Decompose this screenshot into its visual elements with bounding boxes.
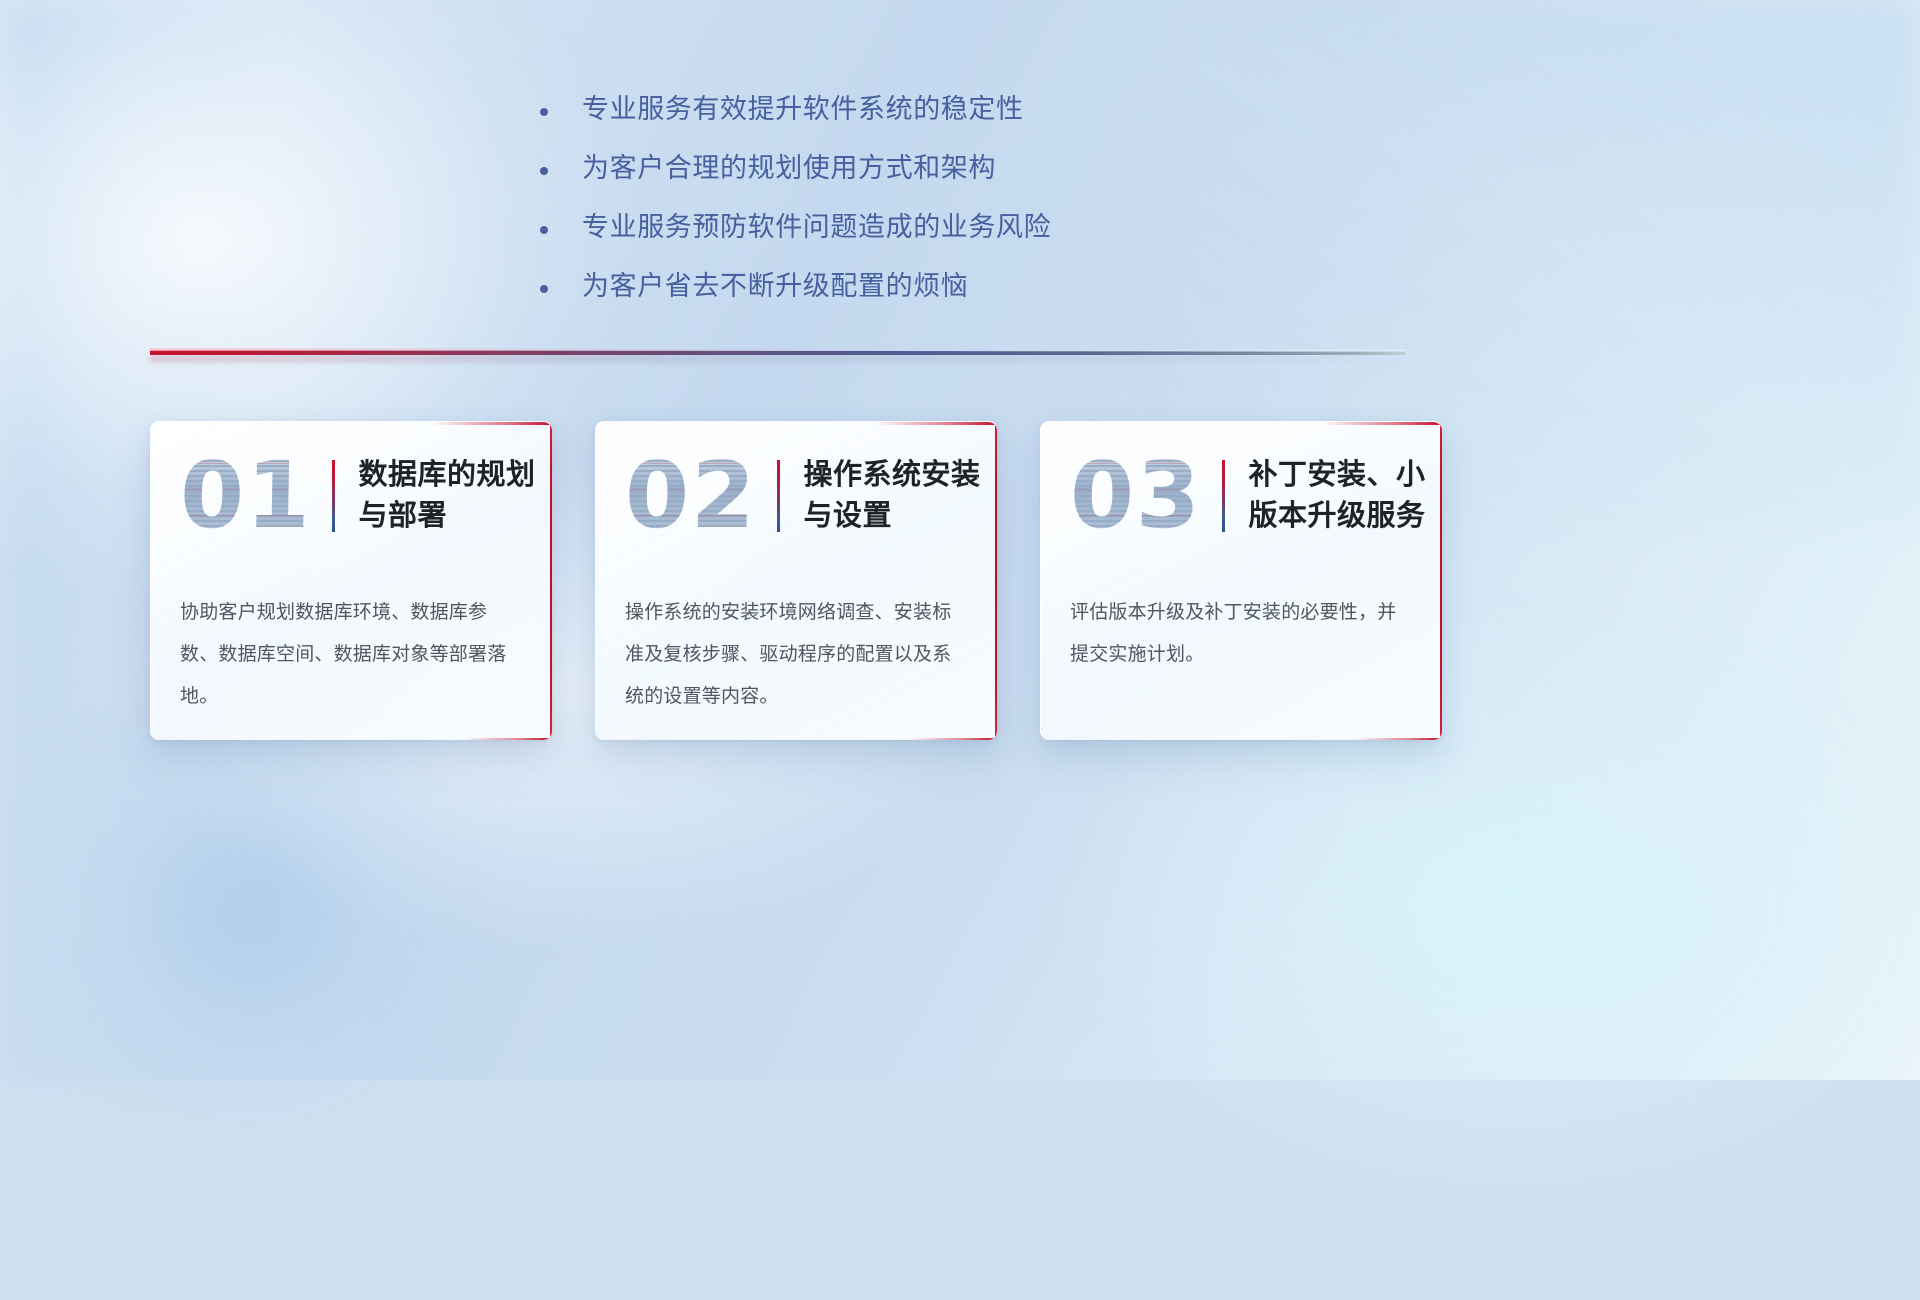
card-title-line-1: 操作系统安装: [804, 455, 981, 496]
bullet-item-label: 为客户省去不断升级配置的烦恼: [582, 267, 968, 305]
bullet-item-label: 为客户合理的规划使用方式和架构: [582, 149, 996, 187]
card-title-line-2: 与设置: [804, 496, 981, 537]
divider-gloss: [150, 348, 1405, 351]
bullet-item: 为客户省去不断升级配置的烦恼: [540, 267, 1180, 305]
service-card[interactable]: 01 数据库的规划 与部署 协助客户规划数据库环境、数据库参数、数据库空间、数据…: [150, 421, 552, 740]
card-divider-line: [332, 460, 335, 532]
bullet-item: 专业服务有效提升软件系统的稳定性: [540, 90, 1180, 128]
section-divider: [150, 346, 1405, 362]
bullet-item-label: 专业服务预防软件问题造成的业务风险: [582, 208, 1051, 246]
divider-shadow: [150, 355, 1405, 362]
card-divider-line: [1222, 460, 1225, 532]
service-card-list: 01 数据库的规划 与部署 协助客户规划数据库环境、数据库参数、数据库空间、数据…: [150, 421, 1442, 740]
card-header: 02 操作系统安装 与设置: [596, 422, 997, 570]
service-card[interactable]: 02 操作系统安装 与设置 操作系统的安装环境网络调查、安装标准及复核步骤、驱动…: [595, 421, 997, 740]
card-divider-line: [777, 460, 780, 532]
bullet-item: 为客户合理的规划使用方式和架构: [540, 149, 1180, 187]
bullet-dot-icon: [540, 285, 548, 293]
card-title-line-1: 补丁安装、小: [1249, 455, 1426, 496]
card-number: 01: [179, 450, 331, 542]
card-header: 01 数据库的规划 与部署: [151, 422, 552, 570]
card-number: 03: [1069, 450, 1221, 542]
service-card[interactable]: 03 补丁安装、小 版本升级服务 评估版本升级及补丁安装的必要性，并提交实施计划…: [1040, 421, 1442, 740]
card-title: 数据库的规划 与部署: [359, 455, 536, 537]
card-description: 操作系统的安装环境网络调查、安装标准及复核步骤、驱动程序的配置以及系统的设置等内…: [596, 570, 997, 718]
card-header: 03 补丁安装、小 版本升级服务: [1041, 422, 1442, 570]
card-title: 操作系统安装 与设置: [804, 455, 981, 537]
card-description: 协助客户规划数据库环境、数据库参数、数据库空间、数据库对象等部署落地。: [151, 570, 552, 718]
card-title-line-2: 与部署: [359, 496, 536, 537]
bullet-dot-icon: [540, 108, 548, 116]
card-title-line-1: 数据库的规划: [359, 455, 536, 496]
bullet-item-label: 专业服务有效提升软件系统的稳定性: [582, 90, 1024, 128]
bullet-dot-icon: [540, 226, 548, 234]
bullet-dot-icon: [540, 167, 548, 175]
card-description: 评估版本升级及补丁安装的必要性，并提交实施计划。: [1041, 570, 1442, 676]
card-accent-bottom: [1354, 738, 1442, 741]
card-accent-bottom: [909, 738, 997, 741]
card-accent-bottom: [464, 738, 552, 741]
card-title: 补丁安装、小 版本升级服务: [1249, 455, 1426, 537]
card-number: 02: [624, 450, 776, 542]
card-title-line-2: 版本升级服务: [1249, 496, 1426, 537]
bullet-item: 专业服务预防软件问题造成的业务风险: [540, 208, 1180, 246]
benefits-bullet-list: 专业服务有效提升软件系统的稳定性 为客户合理的规划使用方式和架构 专业服务预防软…: [540, 90, 1180, 326]
